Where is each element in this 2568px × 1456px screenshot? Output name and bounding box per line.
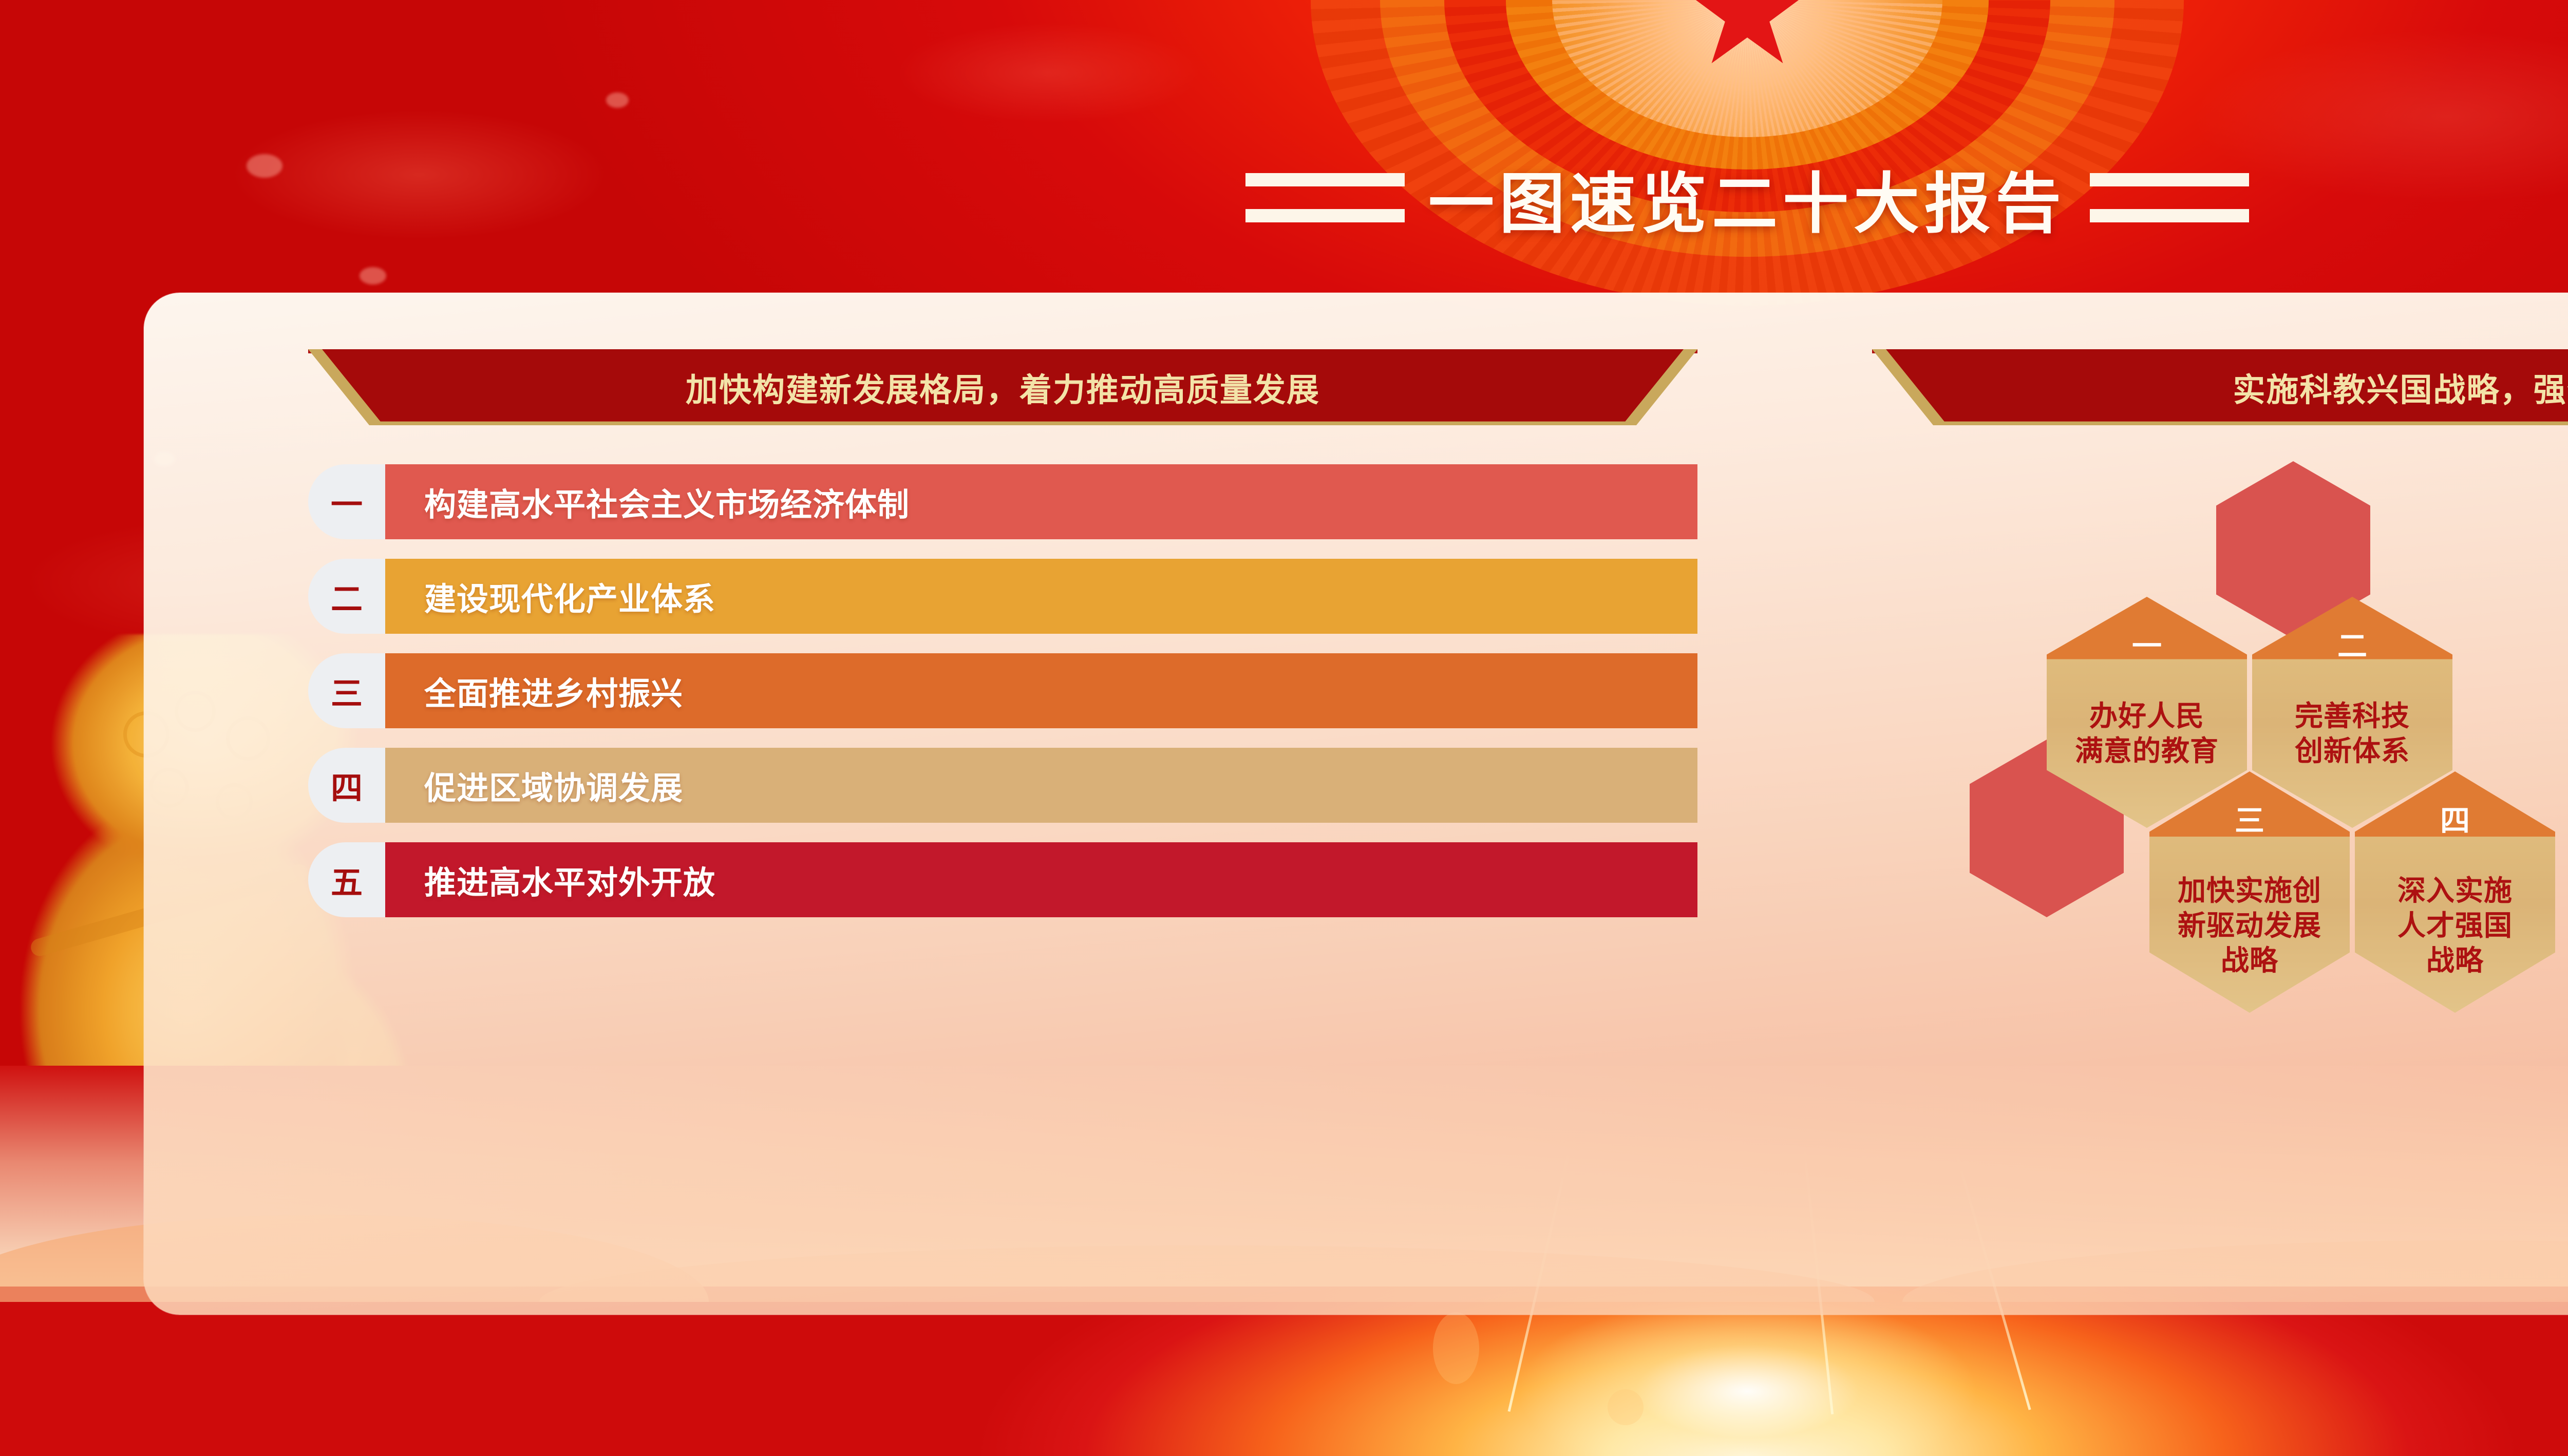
lens-dot bbox=[1608, 1389, 1644, 1425]
bokeh-dot bbox=[606, 92, 629, 108]
item-number-badge: 一 bbox=[308, 464, 385, 539]
item-number: 三 bbox=[331, 668, 363, 714]
item-label: 促进区域协调发展 bbox=[424, 762, 683, 808]
item-label: 建设现代化产业体系 bbox=[424, 573, 715, 619]
content-card: 加快构建新发展格局，着力推动高质量发展 一 构建高水平社会主义市场经济体制 二 bbox=[144, 293, 2568, 1315]
item-label: 构建高水平社会主义市场经济体制 bbox=[424, 479, 910, 525]
list-item[interactable]: 二 建设现代化产业体系 bbox=[308, 559, 1697, 634]
item-number-badge: 四 bbox=[308, 748, 385, 823]
bokeh-dot bbox=[360, 267, 386, 285]
deco-line bbox=[2090, 209, 2249, 222]
section-science-education: 实施科教兴国战略，强化现代化建设人才支撑 一 办好人民满意的教育 二 完善科技创… bbox=[1759, 293, 2568, 1315]
section-heading: 加快构建新发展格局，着力推动高质量发展 bbox=[686, 364, 1320, 411]
item-number: 四 bbox=[331, 762, 363, 808]
hexagon-number: 二 bbox=[2337, 632, 2367, 661]
list-item[interactable]: 四 促进区域协调发展 bbox=[308, 748, 1697, 823]
item-bar: 推进高水平对外开放 bbox=[385, 842, 1697, 917]
item-number: 五 bbox=[331, 857, 363, 903]
section-banner: 加快构建新发展格局，着力推动高质量发展 bbox=[308, 349, 1697, 425]
list-item[interactable]: 三 全面推进乡村振兴 bbox=[308, 653, 1697, 728]
item-bar: 全面推进乡村振兴 bbox=[385, 653, 1697, 728]
list-item[interactable]: 一 构建高水平社会主义市场经济体制 bbox=[308, 464, 1697, 539]
hexagon-number: 一 bbox=[2132, 632, 2162, 661]
deco-line bbox=[2090, 173, 2249, 186]
list-item[interactable]: 五 推进高水平对外开放 bbox=[308, 842, 1697, 917]
item-number-badge: 二 bbox=[308, 559, 385, 634]
development-list: 一 构建高水平社会主义市场经济体制 二 建设现代化产业体系 bbox=[308, 464, 1697, 917]
hexagon-label: 完善科技创新体系 bbox=[2295, 698, 2410, 768]
item-number: 一 bbox=[331, 479, 363, 525]
hexagon-label: 深入实施人才强国战略 bbox=[2397, 873, 2513, 978]
title-deco-right bbox=[2090, 173, 2249, 222]
title-bar: 一图速览二十大报告 bbox=[0, 149, 2568, 247]
item-bar: 促进区域协调发展 bbox=[385, 748, 1697, 823]
deco-line bbox=[1245, 209, 1405, 222]
section-header-development: 加快构建新发展格局，着力推动高质量发展 bbox=[308, 349, 1697, 425]
hexagon-number: 四 bbox=[2440, 806, 2470, 836]
lens-dot bbox=[1433, 1312, 1479, 1384]
item-number-badge: 三 bbox=[308, 653, 385, 728]
hexagon-label: 办好人民满意的教育 bbox=[2075, 698, 2219, 768]
section-banner: 实施科教兴国战略，强化现代化建设人才支撑 bbox=[1872, 349, 2568, 425]
hexagon-label: 加快实施创新驱动发展战略 bbox=[2178, 873, 2321, 978]
item-bar: 建设现代化产业体系 bbox=[385, 559, 1697, 634]
item-number: 二 bbox=[331, 573, 363, 619]
title-deco-left bbox=[1245, 173, 1405, 222]
deco-line bbox=[1245, 173, 1405, 186]
hexagon-number: 三 bbox=[2235, 806, 2264, 836]
item-bar: 构建高水平社会主义市场经济体制 bbox=[385, 464, 1697, 539]
hexagon-cluster: 一 办好人民满意的教育 二 完善科技创新体系 三 加快实施创新驱动发展战略 四 … bbox=[1872, 443, 2568, 1193]
item-label: 全面推进乡村振兴 bbox=[424, 668, 683, 714]
section-heading: 实施科教兴国战略，强化现代化建设人才支撑 bbox=[2233, 364, 2568, 411]
section-header-science-education: 实施科教兴国战略，强化现代化建设人才支撑 bbox=[1872, 349, 2568, 425]
item-label: 推进高水平对外开放 bbox=[424, 857, 715, 903]
section-development: 加快构建新发展格局，着力推动高质量发展 一 构建高水平社会主义市场经济体制 二 bbox=[144, 293, 1759, 1315]
item-number-badge: 五 bbox=[308, 842, 385, 917]
page-title: 一图速览二十大报告 bbox=[1428, 150, 2066, 245]
